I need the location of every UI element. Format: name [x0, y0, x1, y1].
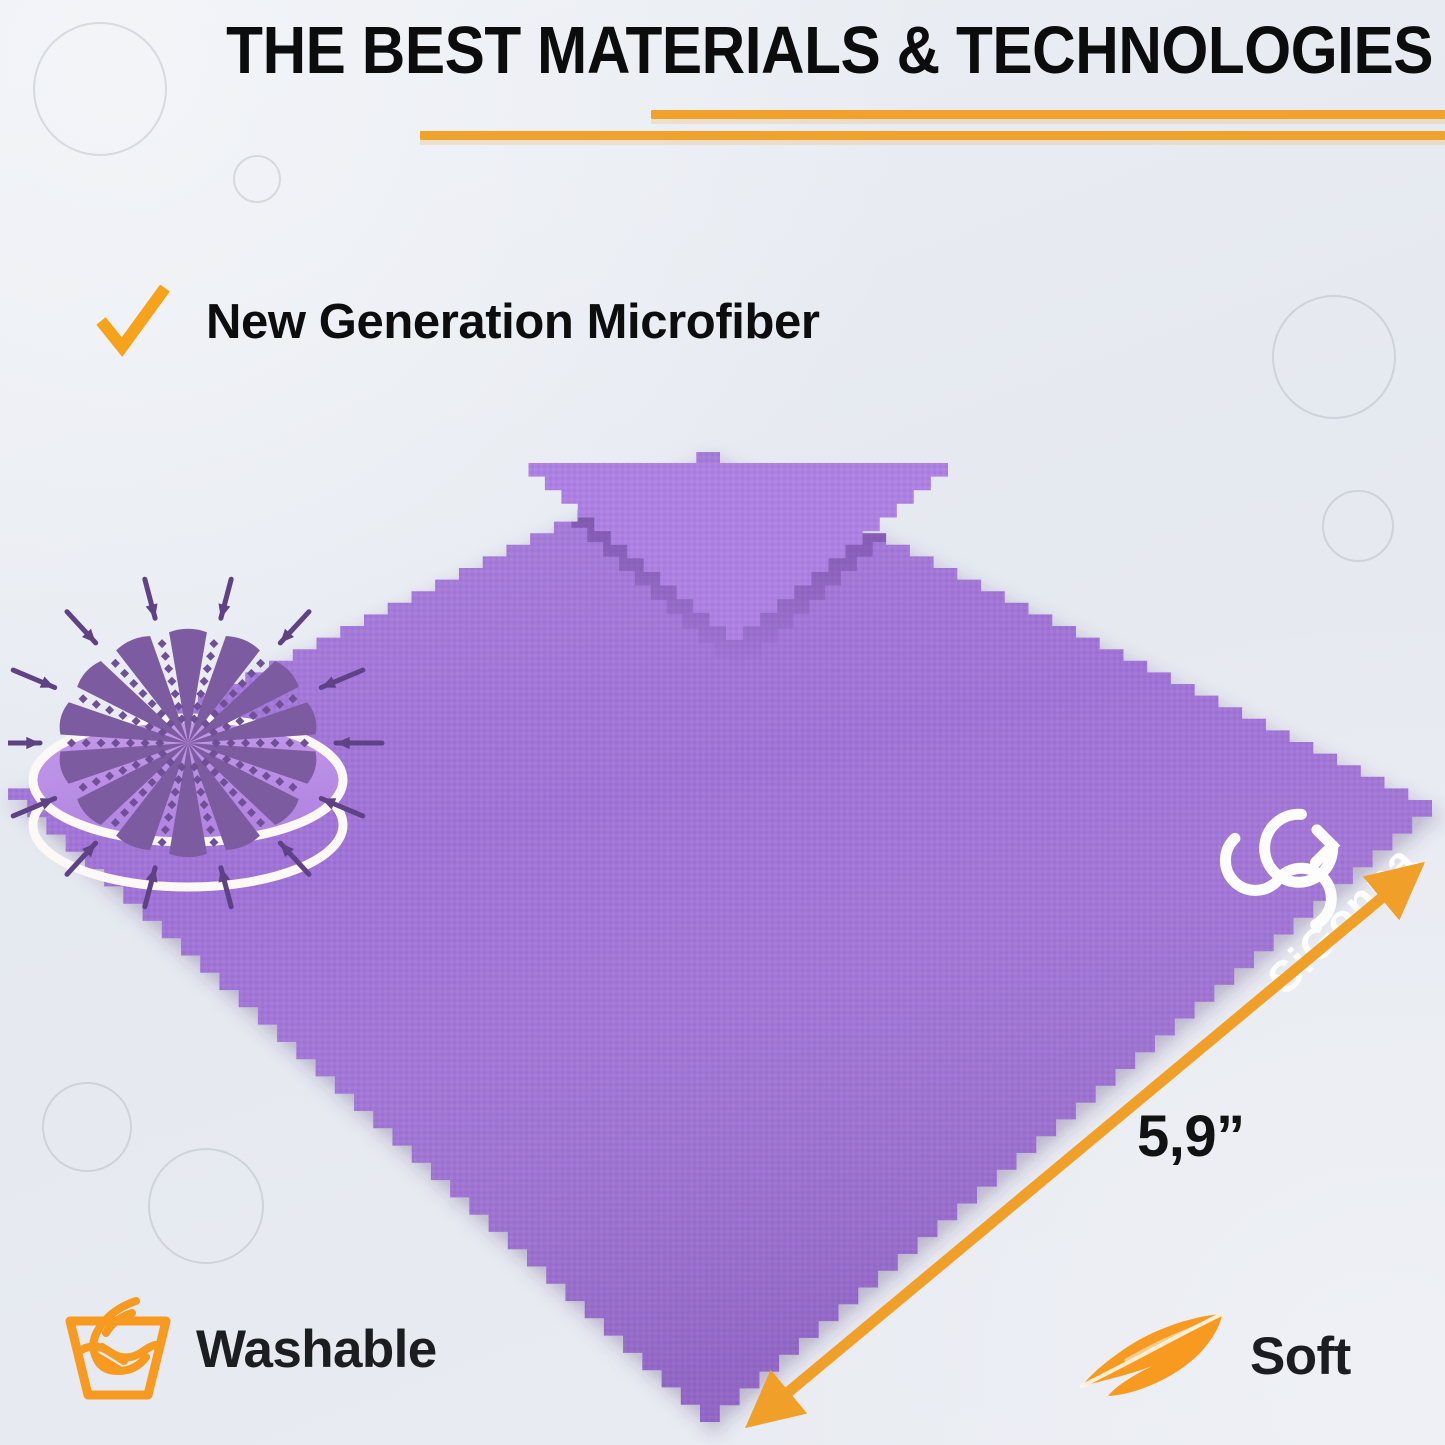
badge-soft-label: Soft: [1250, 1326, 1351, 1387]
infographic-canvas: THE BEST MATERIALS & TECHNOLOGIES New Ge…: [0, 0, 1445, 1445]
feather-icon: [1080, 1308, 1228, 1404]
badge-soft: Soft: [1080, 1308, 1351, 1404]
dimension-label: 5,9”: [1137, 1103, 1245, 1170]
badge-washable: Washable: [62, 1295, 437, 1403]
dimension-arrow: [0, 0, 1445, 1445]
badge-washable-label: Washable: [196, 1319, 437, 1380]
washable-icon: [62, 1295, 174, 1403]
